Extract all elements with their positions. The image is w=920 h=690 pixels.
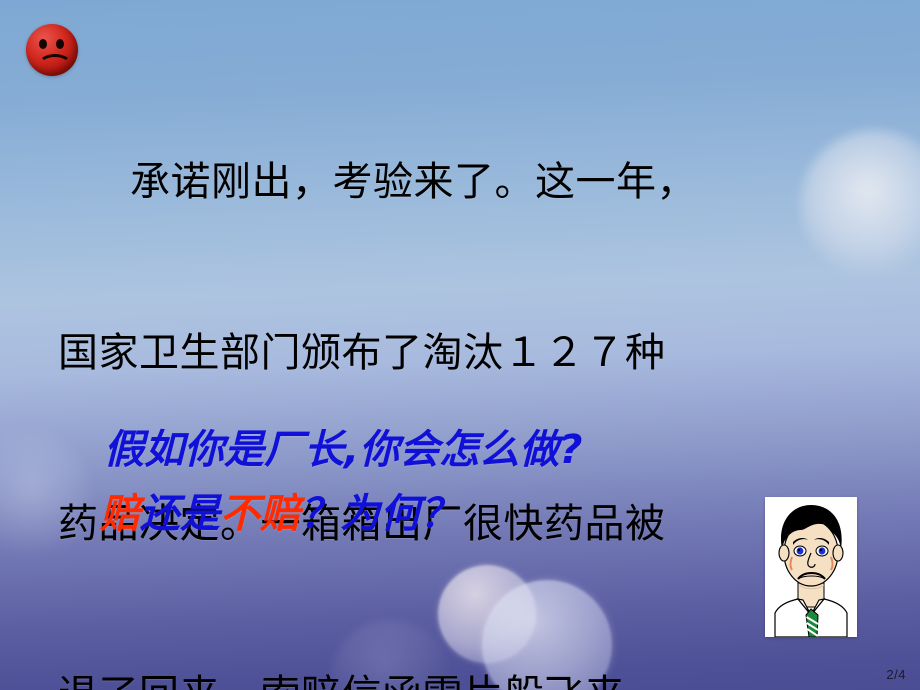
- question-line-2-part-2: 还是: [140, 491, 220, 537]
- page-number: 2/4: [886, 667, 906, 682]
- question-line-2-part-3: 不赔: [220, 491, 300, 537]
- body-line-1: 承诺刚出，考验来了。这一年，: [58, 154, 868, 211]
- question-line-2-part-4: ？为何？: [300, 491, 460, 537]
- worried-man-portrait: [765, 497, 857, 637]
- question-line-2: 赔还是不赔？为何？: [100, 482, 824, 546]
- question-line-1: 假如你是厂长,你会怎么做?: [104, 418, 824, 482]
- body-paragraph: 承诺刚出，考验来了。这一年， 国家卫生部门颁布了淘汰１２７种 药品决定。一箱箱出…: [58, 40, 868, 690]
- body-line-4: 退了回来，索赔信函雪片般飞来。: [58, 667, 868, 690]
- question-line-2-part-1: 赔: [100, 491, 140, 537]
- question-block: 假如你是厂长,你会怎么做? 赔还是不赔？为何？: [104, 418, 824, 546]
- sad-face-eye-left: [39, 39, 47, 49]
- body-line-2: 国家卫生部门颁布了淘汰１２７种: [58, 325, 868, 382]
- slide-canvas: 承诺刚出，考验来了。这一年， 国家卫生部门颁布了淘汰１２７种 药品决定。一箱箱出…: [0, 0, 920, 690]
